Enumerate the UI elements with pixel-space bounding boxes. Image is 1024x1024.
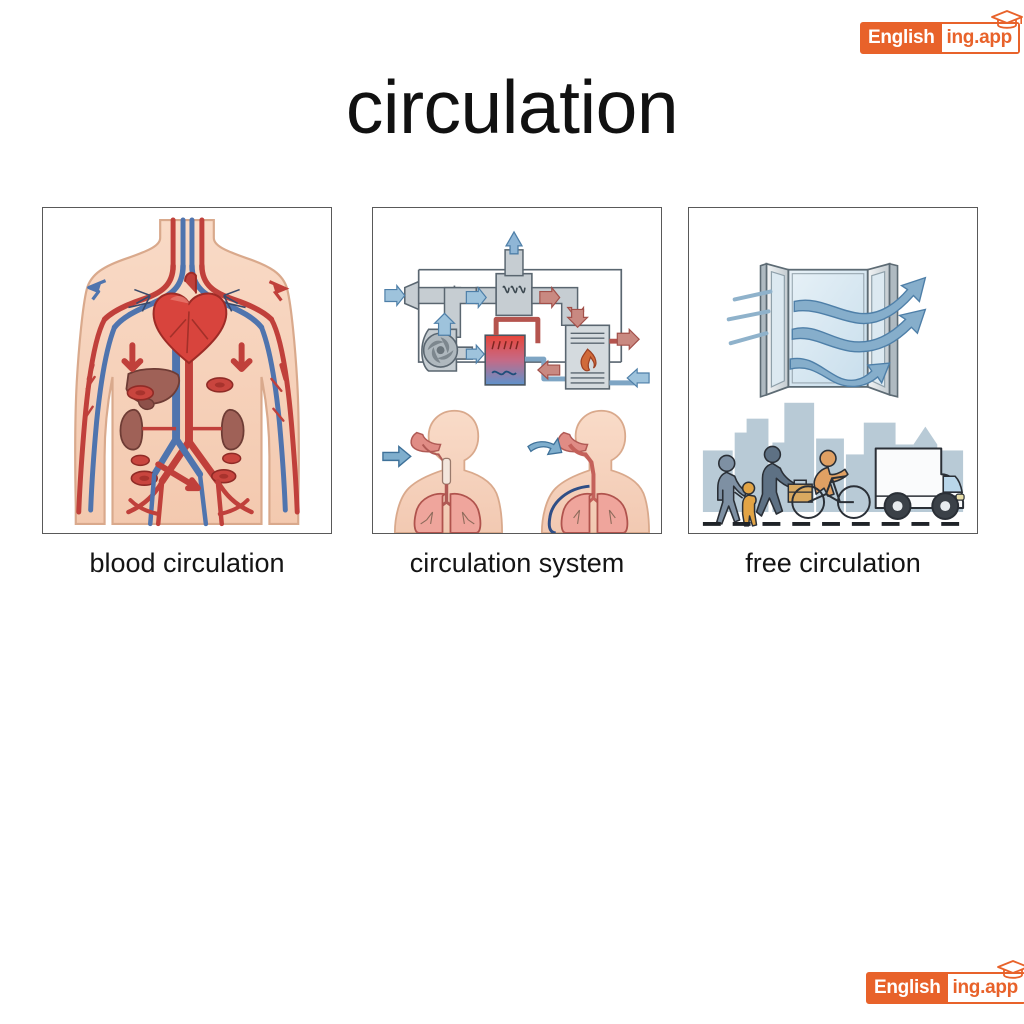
van-headlight (956, 494, 964, 500)
panel-blood-circulation[interactable] (42, 207, 332, 534)
caption-blood-circulation: blood circulation (42, 548, 332, 579)
caption-free-circulation: free circulation (688, 548, 978, 579)
heat-exchanger (496, 274, 532, 316)
larynx (443, 458, 451, 484)
panel-free-circulation[interactable] (688, 207, 978, 534)
human-circulatory-illustration (43, 208, 331, 533)
brand-logo-bottom[interactable]: English ing.app (866, 972, 1024, 1004)
open-window-city-illustration (689, 208, 977, 533)
graduation-cap-icon (996, 959, 1024, 979)
brand-logo-wrap: English ing.app (866, 972, 1024, 1004)
furnace-unit (566, 325, 610, 389)
brand-logo-top[interactable]: English ing.app (860, 22, 1020, 54)
brand-name-part1: English (862, 24, 940, 52)
graduation-cap-icon (990, 9, 1024, 29)
page-root: English ing.app circulation (0, 0, 1024, 1024)
hvac-respiratory-illustration (373, 208, 661, 533)
brand-logo-wrap: English ing.app (860, 22, 1020, 54)
panel-circulation-system[interactable] (372, 207, 662, 534)
brand-name-part1: English (868, 974, 946, 1002)
window-frame-left-edge (761, 264, 767, 397)
caption-circulation-system: circulation system (372, 548, 662, 579)
page-title: circulation (0, 64, 1024, 150)
